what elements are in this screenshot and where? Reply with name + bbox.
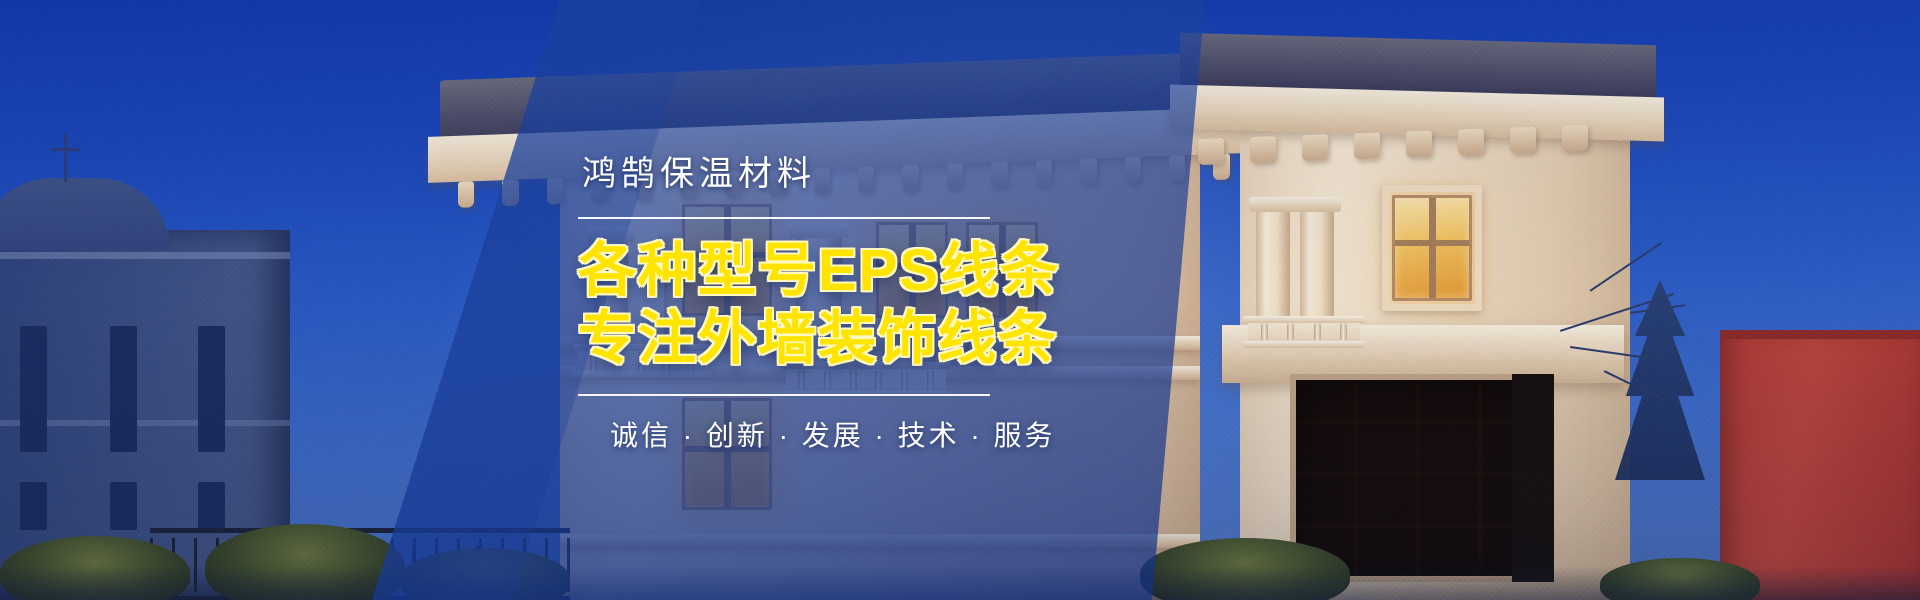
denticle <box>1354 132 1380 159</box>
distant-window <box>198 482 225 530</box>
cornice <box>0 252 290 259</box>
balustrade-rail <box>1243 316 1365 323</box>
denticle <box>502 180 518 207</box>
denticle <box>1406 130 1432 157</box>
bare-tree <box>1440 250 1680 430</box>
divider-top <box>578 217 990 219</box>
denticle <box>1562 125 1588 152</box>
tree-branch <box>1604 370 1668 402</box>
denticle <box>1510 127 1536 154</box>
red-building <box>1720 330 1920 600</box>
villa-column <box>1300 210 1334 330</box>
denticle <box>1458 129 1484 156</box>
brand-name: 鸿鹄保温材料 <box>578 146 816 195</box>
headline-line-2: 专注外墙装饰线条 <box>578 305 1060 372</box>
tree-branch <box>1560 293 1675 332</box>
tagline: 诚信 · 创新 · 发展 · 技术 · 服务 <box>578 414 1056 454</box>
antenna-mast <box>64 134 67 182</box>
balustrade <box>1248 316 1360 348</box>
distant-window <box>198 326 225 452</box>
balustrade-rail <box>1243 341 1365 348</box>
denticle <box>1198 138 1224 165</box>
headline: 各种型号EPS线条 专注外墙装饰线条 <box>578 237 1060 372</box>
divider-bottom <box>578 394 990 396</box>
tree-branch <box>1589 242 1661 292</box>
distant-window <box>110 482 137 530</box>
villa-column <box>1256 210 1290 330</box>
distant-window <box>20 482 47 530</box>
denticle <box>458 181 474 208</box>
distant-window <box>110 326 137 452</box>
tree-branch <box>1570 346 1669 362</box>
banner-content: 鸿鹄保温材料 各种型号EPS线条 专注外墙装饰线条 诚信 · 创新 · 发展 ·… <box>560 0 1180 600</box>
headline-line-1: 各种型号EPS线条 <box>578 238 1060 303</box>
hero-banner: 鸿鹄保温材料 各种型号EPS线条 专注外墙装饰线条 诚信 · 创新 · 发展 ·… <box>0 0 1920 600</box>
denticle <box>1250 136 1276 163</box>
distant-window <box>20 326 47 452</box>
balustrade-posts <box>1251 323 1357 341</box>
denticle <box>1302 134 1328 161</box>
